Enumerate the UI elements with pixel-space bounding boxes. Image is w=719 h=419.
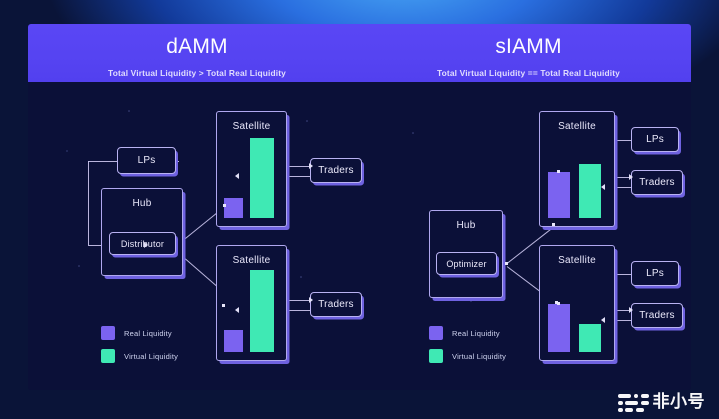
background-speck — [66, 150, 68, 152]
node-label: LPs — [646, 268, 664, 279]
node-distributor[interactable]: Distributor — [109, 232, 176, 255]
arrow-to-satellite-1-siamm — [601, 184, 605, 190]
node-label: LPs — [646, 134, 664, 145]
hub-label-damm: Hub — [102, 198, 182, 209]
bar-real-liquidity-sat1-siamm — [548, 172, 570, 218]
node-label: Traders — [639, 310, 674, 321]
legend-damm: Real Liquidity Virtual Liquidity — [101, 326, 178, 372]
satellite-label: Satellite — [540, 255, 614, 266]
arrow-to-traders-2-siamm — [629, 307, 633, 313]
arrow-into-distributor — [144, 242, 148, 248]
legend-swatch-virtual-icon — [101, 349, 115, 363]
node-traders-2-damm[interactable]: Traders — [310, 292, 362, 317]
background-speck — [412, 132, 414, 134]
comparison-card: dAMM Total Virtual Liquidity > Total Rea… — [28, 24, 691, 390]
legend-label-real: Real Liquidity — [124, 329, 172, 338]
panel-subtitle-damm: Total Virtual Liquidity > Total Real Liq… — [28, 57, 366, 78]
connector-endpoint — [557, 302, 560, 305]
background-speck — [128, 110, 130, 112]
panel-header-siamm: sIAMM Total Virtual Liquidity == Total R… — [366, 24, 691, 82]
panel-title-siamm: sIAMM — [366, 24, 691, 57]
bar-virtual-liquidity-sat2-damm — [250, 270, 274, 352]
legend-label-virtual: Virtual Liquidity — [452, 352, 506, 361]
legend-row-real: Real Liquidity — [101, 326, 178, 340]
node-lps-damm[interactable]: LPs — [117, 147, 176, 174]
panel-body-siamm: Hub Optimizer Satellite — [366, 82, 691, 390]
panel-subtitle-siamm: Total Virtual Liquidity == Total Real Li… — [366, 57, 691, 78]
feixiaohao-logo-icon — [618, 394, 649, 413]
satellite-label: Satellite — [540, 121, 614, 132]
hub-fanout-hinge — [505, 262, 508, 265]
node-traders-2-siamm[interactable]: Traders — [631, 303, 683, 328]
bar-virtual-liquidity-sat1-siamm — [579, 164, 601, 218]
background-speck — [470, 300, 472, 302]
bar-real-liquidity-sat2-damm — [224, 330, 243, 352]
connector-endpoint — [223, 204, 226, 207]
connector-lps-to-distributor-v — [88, 161, 89, 245]
legend-row-real: Real Liquidity — [429, 326, 506, 340]
node-optimizer[interactable]: Optimizer — [436, 252, 497, 275]
arrow-to-traders-2 — [309, 297, 313, 303]
legend-row-virtual: Virtual Liquidity — [429, 349, 506, 363]
watermark-text: 非小号 — [653, 394, 706, 411]
node-lps-1-siamm[interactable]: LPs — [631, 127, 679, 152]
node-label: Optimizer — [446, 259, 486, 269]
bar-real-liquidity-sat1-damm — [224, 198, 243, 218]
arrow-to-traders-1-siamm — [629, 174, 633, 180]
legend-swatch-real-icon — [429, 326, 443, 340]
logo-row — [618, 394, 649, 399]
bar-virtual-liquidity-sat1-damm — [250, 138, 274, 218]
background-speck — [78, 265, 80, 267]
logo-row — [618, 408, 649, 413]
node-label: Traders — [318, 299, 353, 310]
connector-endpoint — [552, 223, 555, 226]
panel-header-damm: dAMM Total Virtual Liquidity > Total Rea… — [28, 24, 366, 82]
arrow-to-traders-1 — [309, 163, 313, 169]
legend-swatch-real-icon — [101, 326, 115, 340]
bar-real-liquidity-sat2-siamm — [548, 304, 570, 352]
node-label: LPs — [138, 155, 156, 166]
node-label: Traders — [639, 177, 674, 188]
legend-swatch-virtual-icon — [429, 349, 443, 363]
diagram-canvas: dAMM Total Virtual Liquidity > Total Rea… — [0, 0, 719, 419]
arrow-to-satellite-1 — [235, 173, 239, 179]
watermark: 非小号 — [618, 394, 705, 413]
connector-endpoint — [222, 304, 225, 307]
background-speck — [300, 276, 302, 278]
legend-row-virtual: Virtual Liquidity — [101, 349, 178, 363]
background-speck — [306, 120, 308, 122]
legend-label-real: Real Liquidity — [452, 329, 500, 338]
legend-siamm: Real Liquidity Virtual Liquidity — [429, 326, 506, 372]
connector-endpoint — [557, 170, 560, 173]
arrow-to-satellite-2 — [235, 307, 239, 313]
panel-title-damm: dAMM — [28, 24, 366, 57]
bar-virtual-liquidity-sat2-siamm — [579, 324, 601, 352]
logo-row — [618, 401, 649, 406]
hub-label-siamm: Hub — [430, 220, 502, 231]
node-label: Traders — [318, 165, 353, 176]
node-label: Distributor — [121, 239, 164, 249]
legend-label-virtual: Virtual Liquidity — [124, 352, 178, 361]
node-lps-2-siamm[interactable]: LPs — [631, 261, 679, 286]
node-traders-1-damm[interactable]: Traders — [310, 158, 362, 183]
satellite-label: Satellite — [217, 255, 286, 266]
node-traders-1-siamm[interactable]: Traders — [631, 170, 683, 195]
arrow-to-satellite-2-siamm — [601, 317, 605, 323]
panel-body-damm: LPs Hub Distributor Satellite — [28, 82, 366, 390]
satellite-label: Satellite — [217, 121, 286, 132]
